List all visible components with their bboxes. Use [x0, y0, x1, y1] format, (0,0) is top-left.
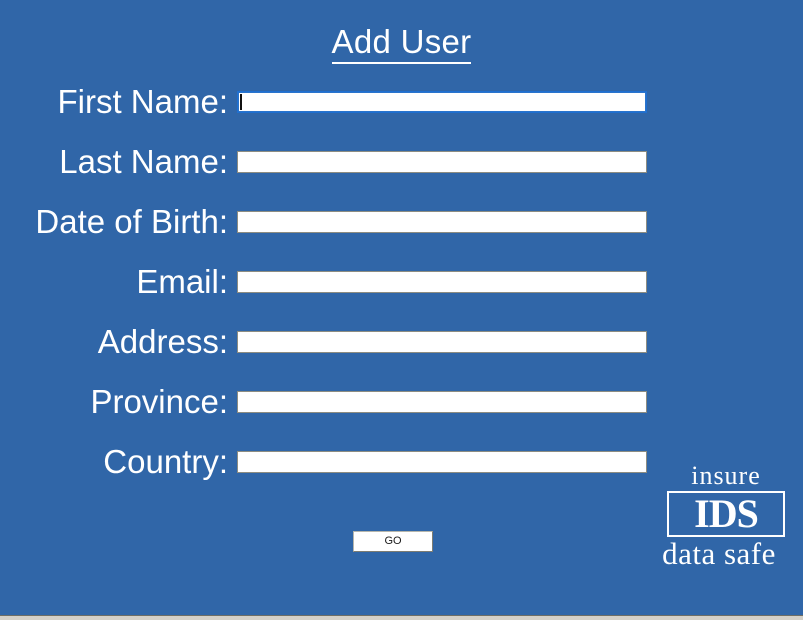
keyhole-icon — [719, 508, 727, 522]
add-user-form: First Name: Last Name: Date of Birth: Em… — [0, 82, 803, 502]
date-of-birth-label: Date of Birth: — [0, 202, 228, 242]
form-row: Last Name: — [0, 142, 803, 202]
text-caret — [240, 94, 242, 110]
form-row: Date of Birth: — [0, 202, 803, 262]
province-label: Province: — [0, 382, 228, 422]
country-input[interactable] — [237, 451, 647, 473]
logo-letter-s: S — [737, 494, 758, 534]
last-name-input[interactable] — [237, 151, 647, 173]
form-row: Province: — [0, 382, 803, 442]
go-button[interactable]: GO — [353, 531, 433, 552]
form-row: Email: — [0, 262, 803, 322]
logo-bottom-text: data safe — [645, 537, 793, 571]
country-label: Country: — [0, 442, 228, 482]
page-title: Add User — [0, 22, 803, 62]
form-row: First Name: — [0, 82, 803, 142]
email-input[interactable] — [237, 271, 647, 293]
logo-mark-box: I D S — [667, 491, 785, 537]
email-label: Email: — [0, 262, 228, 302]
form-row: Address: — [0, 322, 803, 382]
province-input[interactable] — [237, 391, 647, 413]
date-of-birth-input[interactable] — [237, 211, 647, 233]
address-label: Address: — [0, 322, 228, 362]
logo-letter-d: D — [709, 494, 737, 534]
logo-top-text: insure — [659, 462, 793, 490]
last-name-label: Last Name: — [0, 142, 228, 182]
status-bar — [0, 615, 803, 620]
first-name-label: First Name: — [0, 82, 228, 122]
logo-letter-i: I — [694, 494, 709, 534]
first-name-input[interactable] — [237, 91, 647, 113]
logo-mark-text: I D S — [669, 493, 783, 535]
page-title-text: Add User — [332, 23, 472, 64]
ids-logo: insure I D S data safe — [645, 462, 793, 574]
add-user-page: Add User First Name: Last Name: Date of … — [0, 0, 803, 620]
address-input[interactable] — [237, 331, 647, 353]
